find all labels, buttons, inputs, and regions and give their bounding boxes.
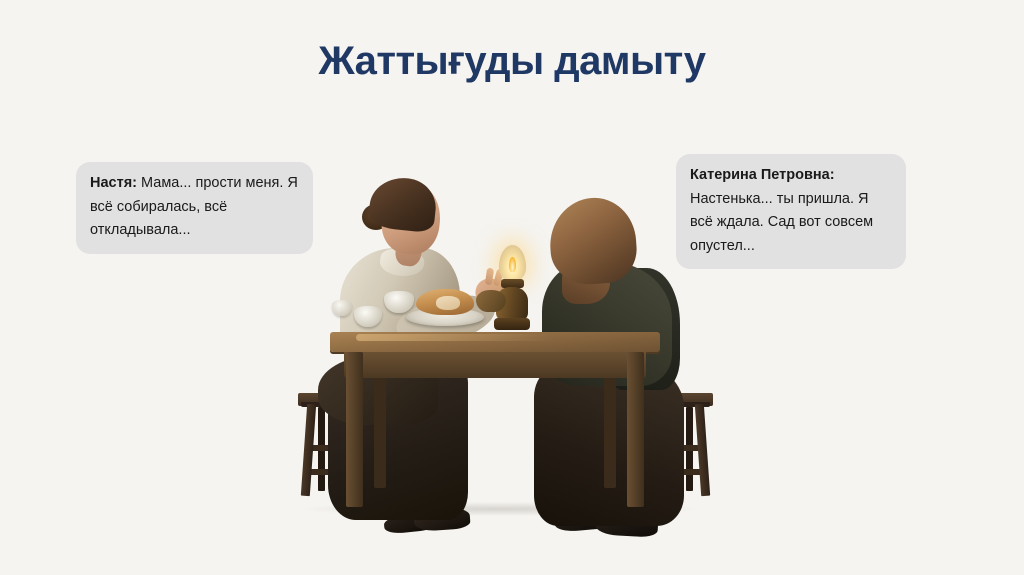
lamp-base [494,318,530,330]
bread-loaf [416,289,474,315]
speech-bubble-left-speaker: Настя: [90,175,137,191]
table-leg [346,352,363,507]
illustration-two-women-at-table [280,150,750,550]
table-apron [344,352,646,378]
table-leg [627,352,644,507]
hair [367,175,438,234]
wooden-table [330,332,660,507]
page-title: Жаттығуды дамыту [0,38,1024,84]
teapot [476,290,506,312]
speech-bubble-left: Настя: Мама... прости меня. Я всё собира… [76,162,313,254]
headscarf [547,195,639,287]
lamp-flame [509,257,516,272]
table-top [330,332,660,352]
slide-canvas: Жаттығуды дамыту Настя: Мама... прости м… [0,0,1024,575]
